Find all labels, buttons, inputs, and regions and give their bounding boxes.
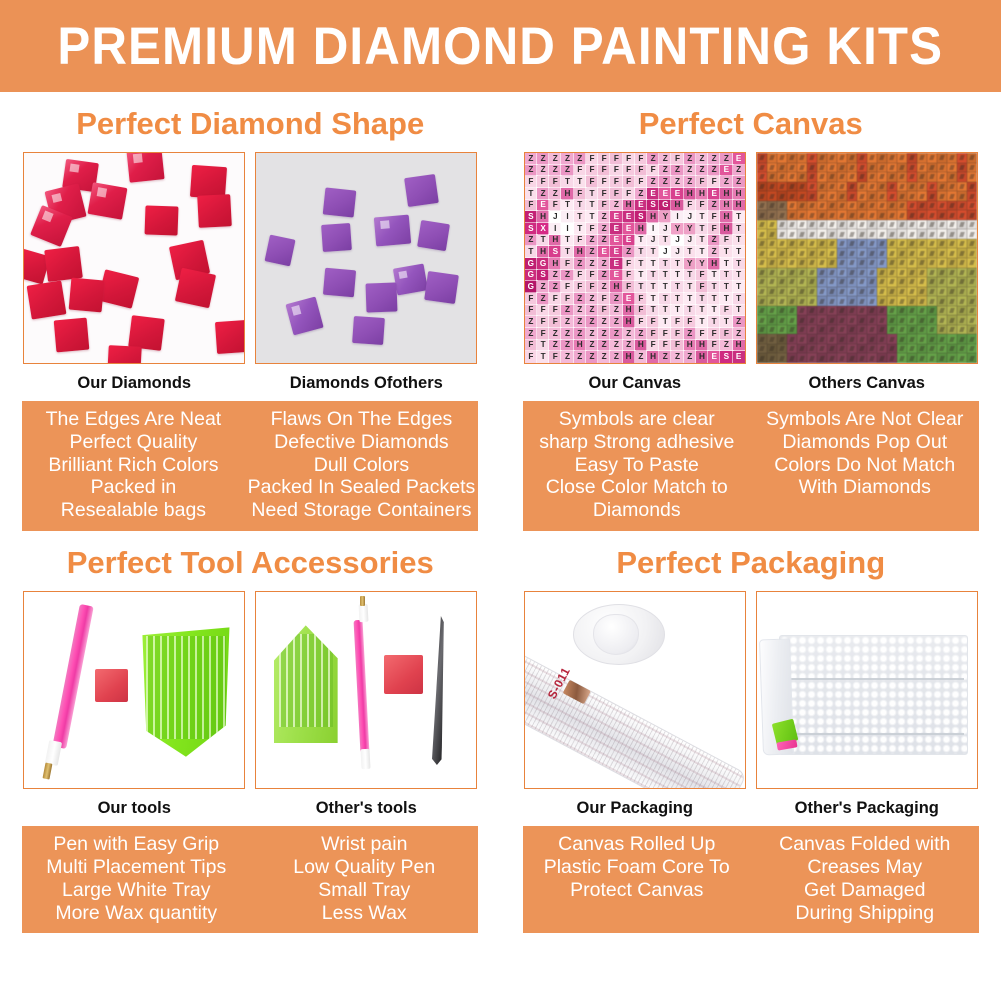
pen-metal-tip-icon [360, 596, 365, 606]
pink-pen-icon [52, 604, 94, 749]
photo-other-diamonds [255, 152, 477, 364]
blurb-line: Wrist pain [253, 833, 475, 856]
blurb-line: Canvas Folded with [754, 833, 976, 856]
comparison-grid: Perfect Diamond Shape [0, 92, 1001, 933]
blurb-line: Symbols Are Not Clear [754, 408, 976, 431]
blurb-col-ours: Canvas Rolled Up Plastic Foam Core To Pr… [523, 833, 751, 924]
symbol-canvas-art: ZZZZZFFFFFZZFZZZZEZZZZFFFFFFFZZZZZEZFFFT… [525, 153, 745, 363]
blurb-line: Protect Canvas [526, 879, 748, 902]
blurb-col-others: Flaws On The Edges Defective Diamonds Du… [245, 408, 479, 522]
section-title: Perfect Tool Accessories [0, 531, 501, 591]
panel-other-tools: Other's tools [255, 591, 477, 826]
blurb-line: Packed In Sealed Packets [248, 476, 476, 499]
bubble-bag-art [757, 592, 977, 788]
section-diamond-shape: Perfect Diamond Shape [0, 92, 501, 531]
panel-row: Our Diamonds [0, 152, 501, 401]
photo-our-diamonds [23, 152, 245, 364]
section-packaging: Perfect Packaging S-011 Our Packaging [501, 531, 1001, 933]
blurb-line: Less Wax [253, 902, 475, 925]
panel-caption: Our tools [23, 789, 245, 826]
blurb-box-diamond-shape: The Edges Are Neat Perfect Quality Brill… [22, 401, 478, 531]
blurb-col-ours: The Edges Are Neat Perfect Quality Brill… [22, 408, 244, 522]
tweezers-icon [430, 615, 447, 764]
blurb-line: Dull Colors [248, 454, 476, 477]
blurb-col-ours: Pen with Easy Grip Multi Placement Tips … [22, 833, 250, 924]
blurb-line: More Wax quantity [25, 902, 247, 925]
blurb-line: Small Tray [253, 879, 475, 902]
page-title: PREMIUM DIAMOND PAINTING KITS [58, 20, 944, 73]
blurb-line: Pen with Easy Grip [25, 833, 247, 856]
panel-our-diamonds: Our Diamonds [23, 152, 245, 401]
blurb-line: The Edges Are Neat [25, 408, 241, 431]
blurb-line: Defective Diamonds [248, 431, 476, 454]
panel-caption: Diamonds Ofothers [255, 364, 477, 401]
pink-pen-icon [354, 619, 370, 753]
panel-caption: Our Diamonds [23, 364, 245, 401]
blurb-line: Diamonds [526, 499, 748, 522]
green-tray-icon [139, 627, 234, 756]
panel-caption: Other's tools [255, 789, 477, 826]
pen-white-grip-icon [360, 749, 370, 769]
panel-others-canvas: Others Canvas [756, 152, 978, 401]
blurb-line: Resealable bags [25, 499, 241, 522]
blurb-line: Brilliant Rich Colors [25, 454, 241, 477]
blurb-box-canvas: Symbols are clear sharp Strong adhesive … [523, 401, 979, 531]
panel-other-packaging: Other's Packaging [756, 591, 978, 826]
photo-others-canvas [756, 152, 978, 364]
red-diamond-scatter-art [24, 153, 244, 363]
wax-square-icon [95, 669, 128, 702]
section-title: Perfect Diamond Shape [0, 92, 501, 152]
blurb-box-packaging: Canvas Rolled Up Plastic Foam Core To Pr… [523, 826, 979, 933]
small-green-tray-icon [274, 625, 338, 743]
photo-our-canvas: ZZZZZFFFFFZZFZZZZEZZZZFFFFFFFZZZZZEZFFFT… [524, 152, 746, 364]
bubble-mailer-icon [779, 635, 968, 755]
pen-metal-tip-icon [43, 762, 52, 779]
panel-caption: Others Canvas [756, 364, 978, 401]
blurb-line: Symbols are clear [526, 408, 748, 431]
blurb-line: During Shipping [754, 902, 976, 925]
panel-row: ZZZZZFFFFFZZFZZZZEZZZZFFFFFFFZZZZZEZFFFT… [501, 152, 1001, 401]
blurb-line: Canvas Rolled Up [526, 833, 748, 856]
blurb-col-others: Wrist pain Low Quality Pen Small Tray Le… [250, 833, 478, 924]
blurb-line: With Diamonds [754, 476, 976, 499]
blurb-col-others: Canvas Folded with Creases May Get Damag… [751, 833, 979, 924]
blurb-line: Packed in [25, 476, 241, 499]
photo-other-packaging [756, 591, 978, 789]
blurb-line: Multi Placement Tips [25, 856, 247, 879]
blurb-line: Diamonds Pop Out [754, 431, 976, 454]
blurb-line: Creases May [754, 856, 976, 879]
other-tools-art [256, 592, 476, 788]
blurb-line: Low Quality Pen [253, 856, 475, 879]
section-tools: Perfect Tool Accessories Our tools [0, 531, 501, 933]
blurb-col-ours: Symbols are clear sharp Strong adhesive … [523, 408, 751, 522]
wax-square-icon [384, 655, 424, 694]
section-title: Perfect Canvas [501, 92, 1001, 152]
panel-caption: Other's Packaging [756, 789, 978, 826]
panel-other-diamonds: Diamonds Ofothers [255, 152, 477, 401]
blurb-line: Easy To Paste [526, 454, 748, 477]
blurb-line: Colors Do Not Match [754, 454, 976, 477]
photo-our-tools [23, 591, 245, 789]
blurry-canvas-art [757, 153, 977, 363]
panel-our-tools: Our tools [23, 591, 245, 826]
purple-diamond-scatter-art [256, 153, 476, 363]
blurb-box-tools: Pen with Easy Grip Multi Placement Tips … [22, 826, 478, 933]
section-canvas: Perfect Canvas ZZZZZFFFFFZZFZZZZEZZZZFFF… [501, 92, 1001, 531]
panel-row: Our tools Other's [0, 591, 501, 826]
photo-other-tools [255, 591, 477, 789]
blurb-line: Get Damaged [754, 879, 976, 902]
tube-packaging-art: S-011 [525, 592, 745, 788]
section-title: Perfect Packaging [501, 531, 1001, 591]
blurb-line: Flaws On The Edges [248, 408, 476, 431]
blurb-line: Large White Tray [25, 879, 247, 902]
pen-white-tip-icon [45, 740, 62, 766]
panel-our-canvas: ZZZZZFFFFFZZFZZZZEZZZZFFFFFFFZZZZZEZFFFT… [524, 152, 746, 401]
bag-seam [781, 678, 964, 680]
blurb-line: Perfect Quality [25, 431, 241, 454]
panel-row: S-011 Our Packaging [501, 591, 1001, 826]
blurb-line: sharp Strong adhesive [526, 431, 748, 454]
blurb-line: Close Color Match to [526, 476, 748, 499]
panel-caption: Our Canvas [524, 364, 746, 401]
blurb-col-others: Symbols Are Not Clear Diamonds Pop Out C… [751, 408, 979, 522]
header-banner: PREMIUM DIAMOND PAINTING KITS [0, 0, 1001, 92]
blurb-line: Need Storage Containers [248, 499, 476, 522]
panel-caption: Our Packaging [524, 789, 746, 826]
tube-cap-inner-icon [593, 614, 639, 655]
blurb-line: Plastic Foam Core To [526, 856, 748, 879]
pen-white-tip-icon [358, 604, 368, 622]
photo-our-packaging: S-011 [524, 591, 746, 789]
panel-our-packaging: S-011 Our Packaging [524, 591, 746, 826]
our-tools-art [24, 592, 244, 788]
bag-seam [781, 733, 964, 735]
